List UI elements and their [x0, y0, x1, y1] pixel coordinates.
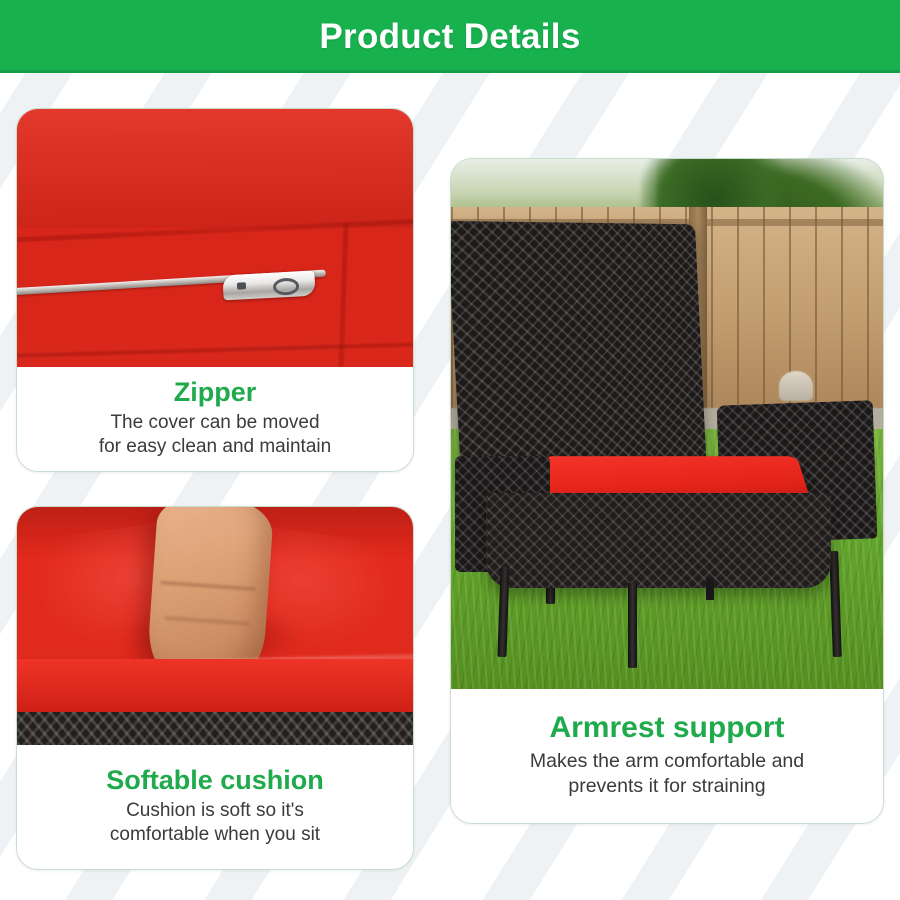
- chair-leg-front-right: [628, 583, 637, 668]
- feature-card-zipper[interactable]: Zipper The cover can be moved for easy c…: [16, 108, 414, 472]
- zipper-caption: Zipper The cover can be moved for easy c…: [17, 367, 413, 471]
- cushion-title: Softable cushion: [27, 765, 403, 795]
- cushion-description-line-1: Cushion is soft so it's: [27, 799, 403, 823]
- feature-card-armrest-support[interactable]: Armrest support Makes the arm comfortabl…: [450, 158, 884, 824]
- zipper-description-line-1: The cover can be moved: [27, 411, 403, 435]
- stone-planter: [779, 371, 813, 401]
- rattan-weave-strip: [17, 712, 413, 745]
- cushion-side-panel: [17, 659, 413, 711]
- armrest-caption: Armrest support Makes the arm comfortabl…: [451, 689, 883, 823]
- cushion-bottom-seam: [17, 342, 413, 358]
- cushion-photo: [17, 507, 413, 745]
- chair-photo: [451, 159, 883, 689]
- zipper-photo: [17, 109, 413, 367]
- armrest-description: Makes the arm comfortable and prevents i…: [461, 749, 873, 799]
- page-title: Product Details: [319, 17, 580, 57]
- zipper-slider-icon: [222, 270, 315, 300]
- product-details-infographic: Product Details Zipper The cover can be …: [0, 0, 900, 900]
- chair-seat-frame: [486, 493, 832, 588]
- zipper-description: The cover can be moved for easy clean an…: [27, 411, 403, 460]
- armrest-description-line-2: prevents it for straining: [461, 774, 873, 799]
- cushion-caption: Softable cushion Cushion is soft so it's…: [17, 745, 413, 869]
- feature-card-softable-cushion[interactable]: Softable cushion Cushion is soft so it's…: [16, 506, 414, 870]
- zipper-description-line-2: for easy clean and maintain: [27, 435, 403, 459]
- zipper-title: Zipper: [27, 377, 403, 407]
- chair-stretcher: [706, 578, 714, 600]
- header-banner: Product Details: [0, 0, 900, 73]
- zipper-photo-top-shading: [17, 109, 413, 228]
- armrest-title: Armrest support: [461, 711, 873, 745]
- cushion-description-line-2: comfortable when you sit: [27, 823, 403, 847]
- cushion-description: Cushion is soft so it's comfortable when…: [27, 799, 403, 848]
- armrest-description-line-1: Makes the arm comfortable and: [461, 749, 873, 774]
